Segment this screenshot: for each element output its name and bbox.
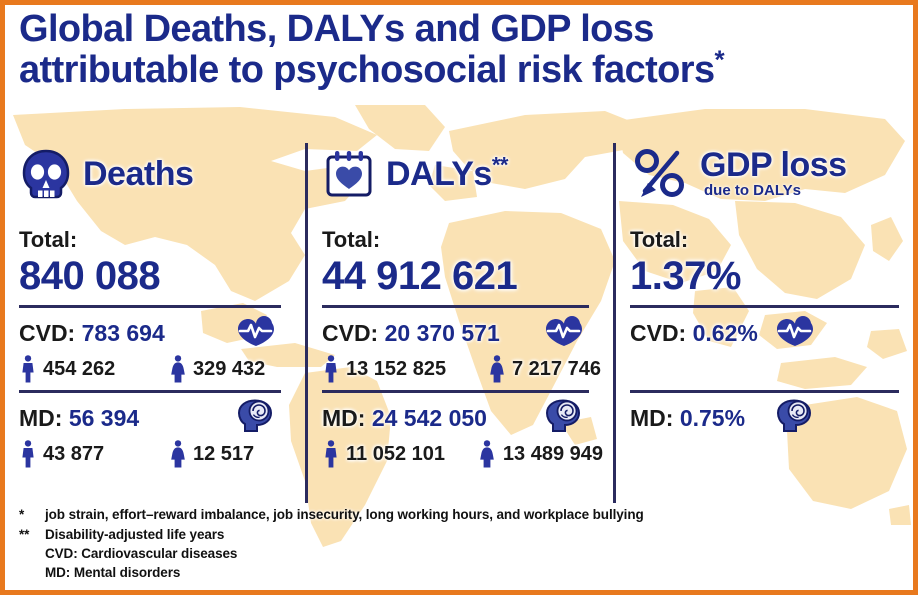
column-title-dalys: DALYs**	[386, 157, 508, 191]
stat-column-deaths: Deaths Total: 840 088 CVD: 783 694	[5, 143, 305, 503]
divider-rule	[322, 390, 589, 393]
sex-breakdown-cvd-dalys: 13 152 825 7 217 746	[322, 354, 603, 384]
sex-breakdown-md-dalys: 11 052 101 13 489 949	[322, 439, 603, 469]
footnote-text: CVD: Cardiovascular diseases	[45, 544, 899, 563]
male-figure-icon	[322, 440, 339, 468]
male-figure-icon	[19, 440, 36, 468]
male-value: 43 877	[43, 444, 104, 464]
male-value: 13 152 825	[346, 359, 446, 379]
divider-rule	[630, 305, 899, 308]
male-stat: 454 262	[19, 355, 169, 383]
column-header-dalys: DALYs**	[322, 143, 603, 205]
head-brain-icon	[545, 399, 583, 433]
footnote-text: Disability-adjusted life years	[45, 525, 899, 544]
title-line-1: Global Deaths, DALYs and GDP loss	[19, 9, 909, 50]
metric-value-cvd: 20 370 571	[385, 320, 500, 346]
title-line-2: attributable to psychosocial risk factor…	[19, 49, 715, 91]
skull-icon	[19, 147, 73, 201]
female-stat: 329 432	[169, 355, 265, 383]
total-label-gdp-loss: Total:	[630, 229, 913, 251]
metric-label-md: MD:	[322, 405, 372, 431]
male-stat: 43 877	[19, 440, 169, 468]
female-figure-icon	[488, 355, 505, 383]
stat-column-dalys: DALYs** Total: 44 912 621 CVD: 20 370 57…	[305, 143, 613, 503]
metric-label-md: MD:	[630, 405, 680, 431]
footnote-item: ** Disability-adjusted life years	[19, 525, 899, 544]
total-value-gdp-loss: 1.37%	[630, 255, 913, 297]
divider-rule	[630, 390, 899, 393]
footnote-mark: *	[19, 505, 45, 524]
heart-pulse-icon	[237, 314, 275, 348]
male-figure-icon	[19, 355, 36, 383]
infographic-page: Global Deaths, DALYs and GDP loss attrib…	[0, 0, 918, 595]
calendar-heart-icon	[322, 147, 376, 201]
female-figure-icon	[169, 440, 186, 468]
male-value: 454 262	[43, 359, 115, 379]
metric-value-md: 0.75%	[680, 405, 745, 431]
male-figure-icon	[322, 355, 339, 383]
metric-row-cvd-dalys: CVD: 20 370 571	[322, 318, 603, 348]
column-title-gdp-loss: GDP loss	[700, 148, 847, 182]
female-figure-icon	[169, 355, 186, 383]
metric-value-md: 56 394	[69, 405, 139, 431]
metric-row-md-deaths: MD: 56 394	[19, 403, 295, 433]
heart-pulse-icon	[776, 314, 814, 348]
divider-rule	[19, 390, 281, 393]
divider-rule	[19, 305, 281, 308]
head-brain-icon	[237, 399, 275, 433]
female-stat: 7 217 746	[488, 355, 601, 383]
sex-breakdown-cvd-deaths: 454 262 329 432	[19, 354, 295, 384]
female-value: 13 489 949	[503, 444, 603, 464]
sex-breakdown-placeholder	[630, 354, 913, 384]
footnote-mark	[19, 544, 45, 563]
total-label-deaths: Total:	[19, 229, 295, 251]
female-value: 329 432	[193, 359, 265, 379]
footnote-mark	[19, 563, 45, 582]
metric-row-md-gdp-loss: MD: 0.75%	[630, 403, 913, 433]
metric-row-cvd-gdp-loss: CVD: 0.62%	[630, 318, 913, 348]
metric-value-cvd: 0.62%	[693, 320, 758, 346]
male-stat: 11 052 101	[322, 440, 479, 468]
metric-label-cvd: CVD:	[19, 320, 82, 346]
stat-columns: Deaths Total: 840 088 CVD: 783 694	[5, 143, 918, 503]
female-value: 7 217 746	[512, 359, 601, 379]
metric-value-cvd: 783 694	[82, 320, 165, 346]
footnote-text: job strain, effort–reward imbalance, job…	[45, 505, 899, 524]
metric-label-cvd: CVD:	[630, 320, 693, 346]
column-subtitle-gdp-loss: due to DALYs	[704, 183, 847, 200]
column-header-deaths: Deaths	[19, 143, 295, 205]
total-value-dalys: 44 912 621	[322, 255, 603, 297]
percent-down-arrow-icon	[630, 147, 690, 201]
metric-value-md: 24 542 050	[372, 405, 487, 431]
male-stat: 13 152 825	[322, 355, 488, 383]
metric-label-cvd: CVD:	[322, 320, 385, 346]
female-stat: 12 517	[169, 440, 254, 468]
footnote-item: CVD: Cardiovascular diseases	[19, 544, 899, 563]
page-title: Global Deaths, DALYs and GDP loss attrib…	[19, 9, 909, 91]
stat-column-gdp-loss: GDP loss due to DALYs Total: 1.37% CVD: …	[613, 143, 918, 503]
heart-pulse-icon	[545, 314, 583, 348]
metric-row-md-dalys: MD: 24 542 050	[322, 403, 603, 433]
column-header-gdp-loss: GDP loss due to DALYs	[630, 143, 913, 205]
footnote-text: MD: Mental disorders	[45, 563, 899, 582]
total-label-dalys: Total:	[322, 229, 603, 251]
total-value-deaths: 840 088	[19, 255, 295, 297]
sex-breakdown-md-deaths: 43 877 12 517	[19, 439, 295, 469]
title-asterisk: *	[715, 44, 725, 74]
head-brain-icon	[776, 399, 814, 433]
metric-row-cvd-deaths: CVD: 783 694	[19, 318, 295, 348]
divider-rule	[322, 305, 589, 308]
metric-label-md: MD:	[19, 405, 69, 431]
footnote-item: MD: Mental disorders	[19, 563, 899, 582]
column-title-deaths: Deaths	[83, 157, 193, 191]
footnote-mark: **	[19, 525, 45, 544]
female-stat: 13 489 949	[479, 440, 603, 468]
male-value: 11 052 101	[346, 444, 445, 464]
female-figure-icon	[479, 440, 496, 468]
female-value: 12 517	[193, 444, 254, 464]
footnotes: * job strain, effort–reward imbalance, j…	[19, 505, 899, 582]
footnote-item: * job strain, effort–reward imbalance, j…	[19, 505, 899, 524]
